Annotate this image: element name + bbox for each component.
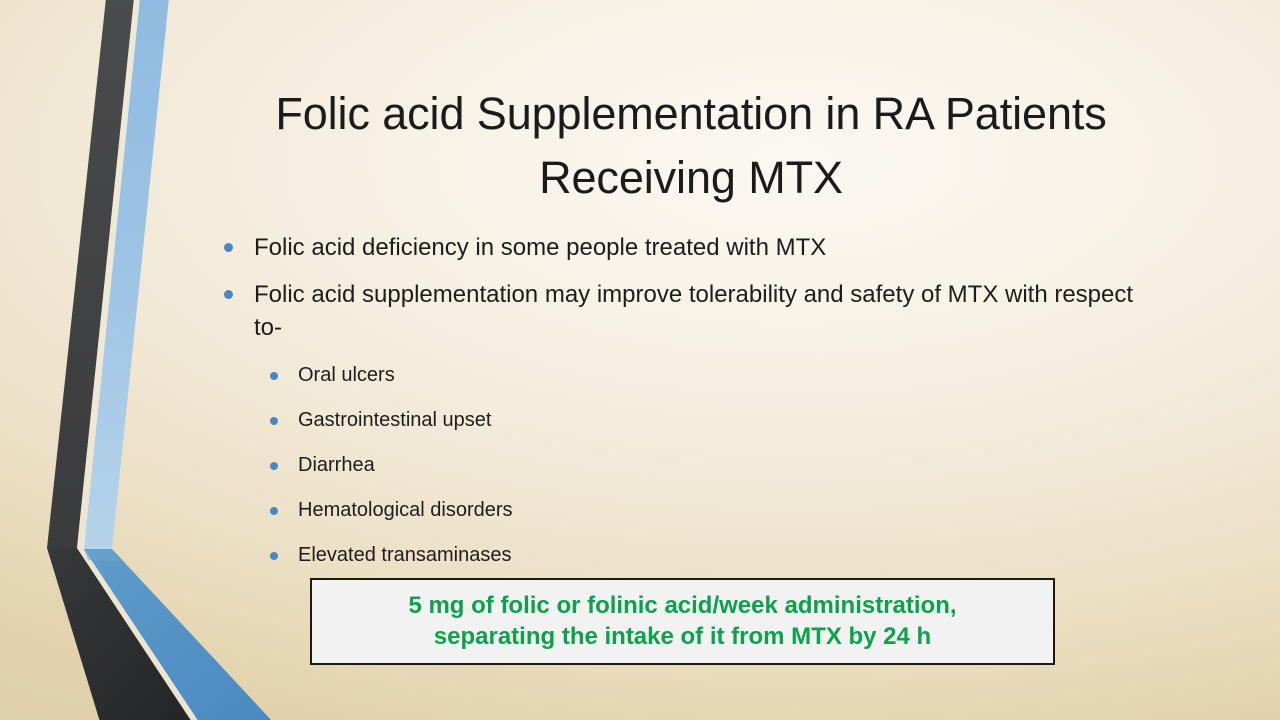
callout-text: 5 mg of folic or folinic acid/week admin… xyxy=(394,591,970,652)
slide-title: Folic acid Supplementation in RA Patient… xyxy=(196,82,1186,210)
sub-bullet-label: Gastrointestinal upset xyxy=(298,409,491,431)
bullet-item: Folic acid deficiency in some people tre… xyxy=(220,232,1160,265)
sub-bullet-item: Hematological disorders xyxy=(268,498,1160,522)
dark-band-upper xyxy=(47,0,134,548)
callout-line-2: separating the intake of it from MTX by … xyxy=(408,622,956,653)
sub-bullet-label: Elevated transaminases xyxy=(298,544,511,566)
bullet-item: Folic acid supplementation may improve t… xyxy=(220,279,1160,345)
bullet-dot-icon xyxy=(270,417,278,425)
band-seam-upper xyxy=(77,0,140,548)
dark-band-lower xyxy=(47,548,192,720)
sub-bullet-label: Diarrhea xyxy=(298,454,375,476)
bullet-dot-icon xyxy=(270,372,278,380)
bullet-dot-icon xyxy=(270,462,278,470)
sub-bullet-label: Hematological disorders xyxy=(298,499,513,521)
sub-bullet-item: Elevated transaminases xyxy=(268,543,1160,567)
sub-bullet-list: Oral ulcers Gastrointestinal upset Diarr… xyxy=(220,363,1160,567)
callout-line-1: 5 mg of folic or folinic acid/week admin… xyxy=(408,591,956,622)
band-seam-lower xyxy=(77,548,199,720)
slide-body: Folic acid deficiency in some people tre… xyxy=(220,232,1160,567)
bullet-dot-icon xyxy=(224,243,233,252)
sub-bullet-item: Oral ulcers xyxy=(268,363,1160,387)
blue-band-upper xyxy=(84,0,169,549)
bullet-dot-icon xyxy=(270,552,278,560)
band-fold-highlight xyxy=(84,549,120,562)
sub-bullet-item: Gastrointestinal upset xyxy=(268,408,1160,432)
blue-band-lower xyxy=(84,549,273,720)
bullet-dot-icon xyxy=(224,290,233,299)
bullet-label: Folic acid supplementation may improve t… xyxy=(254,281,1133,341)
sub-bullet-item: Diarrhea xyxy=(268,453,1160,477)
bullet-dot-icon xyxy=(270,507,278,515)
sub-bullet-label: Oral ulcers xyxy=(298,364,395,386)
bullet-label: Folic acid deficiency in some people tre… xyxy=(254,234,826,261)
slide-canvas: Folic acid Supplementation in RA Patient… xyxy=(0,0,1280,720)
callout-box: 5 mg of folic or folinic acid/week admin… xyxy=(310,578,1055,665)
